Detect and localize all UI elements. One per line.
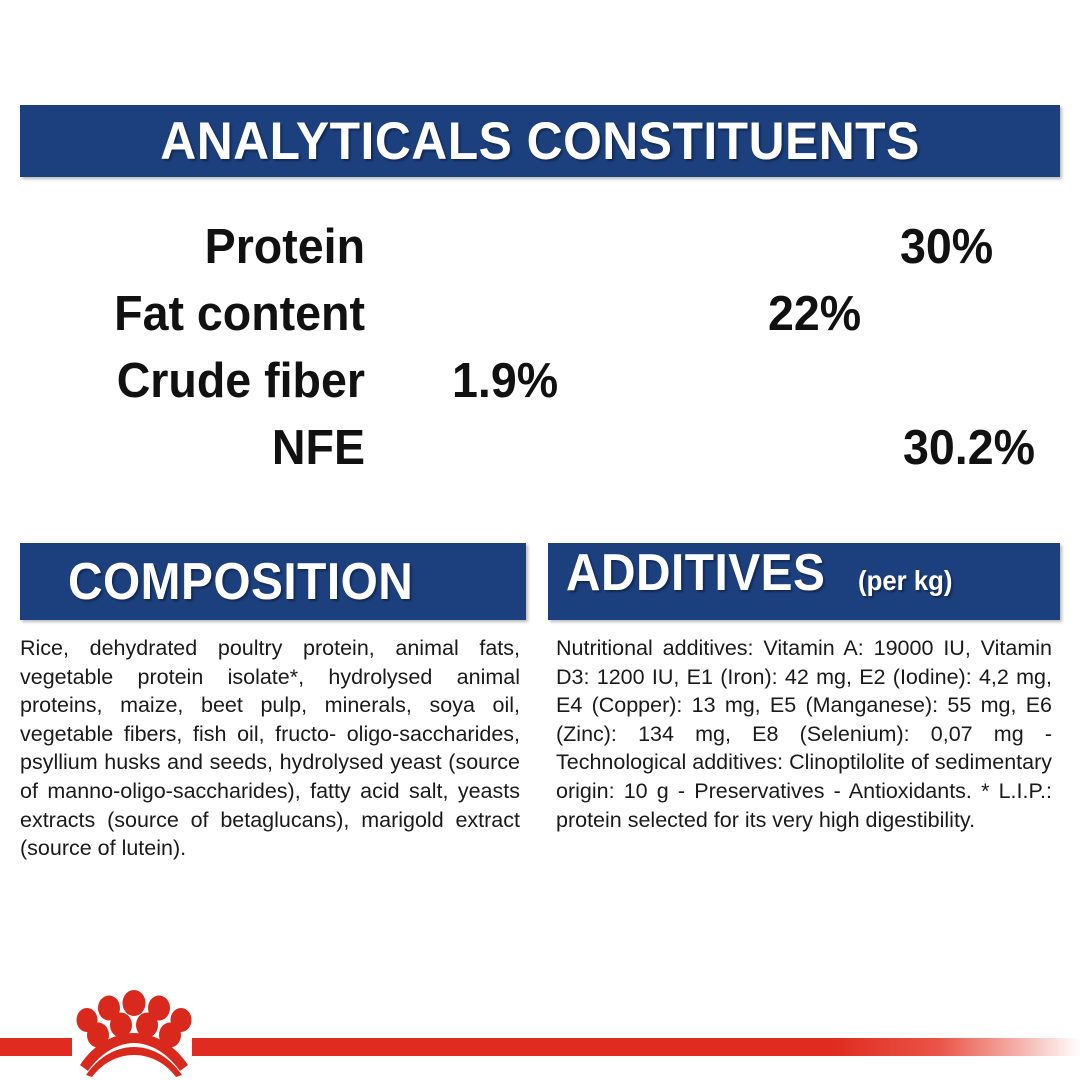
nutrition-panel: ANALYTICALS CONSTITUENTS Protein 30% Fat… [0, 0, 1080, 1080]
chart-row: Protein 30% [0, 214, 1080, 280]
composition-banner-title: COMPOSITION [68, 552, 413, 612]
bar-category-label: Crude fiber [18, 348, 365, 414]
additives-text: Nutritional additives: Vitamin A: 19000 … [556, 634, 1052, 834]
footer-rule-left [0, 1038, 72, 1056]
chart-row: NFE 30.2% [0, 415, 1080, 481]
bar-value-label: 30% [900, 214, 993, 280]
additives-banner-subtitle: (per kg) [858, 565, 952, 597]
bar-value-label: 1.9% [452, 348, 558, 414]
analyticals-bar-chart: Protein 30% Fat content 22% Crude fiber … [0, 214, 1080, 484]
chart-row: Crude fiber 1.9% [0, 348, 1080, 414]
bar-category-label: Fat content [18, 281, 365, 347]
analyticals-banner-title: ANALYTICALS CONSTITUENTS [160, 111, 920, 172]
analyticals-constituents-banner: ANALYTICALS CONSTITUENTS [20, 105, 1060, 177]
bar-category-label: NFE [18, 415, 365, 481]
additives-banner: ADDITIVES (per kg) [548, 543, 1060, 620]
royal-canin-crown-logo [72, 985, 196, 1077]
bar-value-label: 30.2% [903, 415, 1035, 481]
bar-category-label: Protein [18, 214, 365, 280]
footer [0, 985, 1080, 1080]
footer-rule-right [192, 1038, 1080, 1056]
chart-row: Fat content 22% [0, 281, 1080, 347]
additives-banner-title: ADDITIVES [566, 543, 825, 603]
bar-value-label: 22% [768, 281, 861, 347]
composition-banner: COMPOSITION [20, 543, 526, 620]
composition-text: Rice, dehydrated poultry protein, animal… [20, 634, 520, 863]
